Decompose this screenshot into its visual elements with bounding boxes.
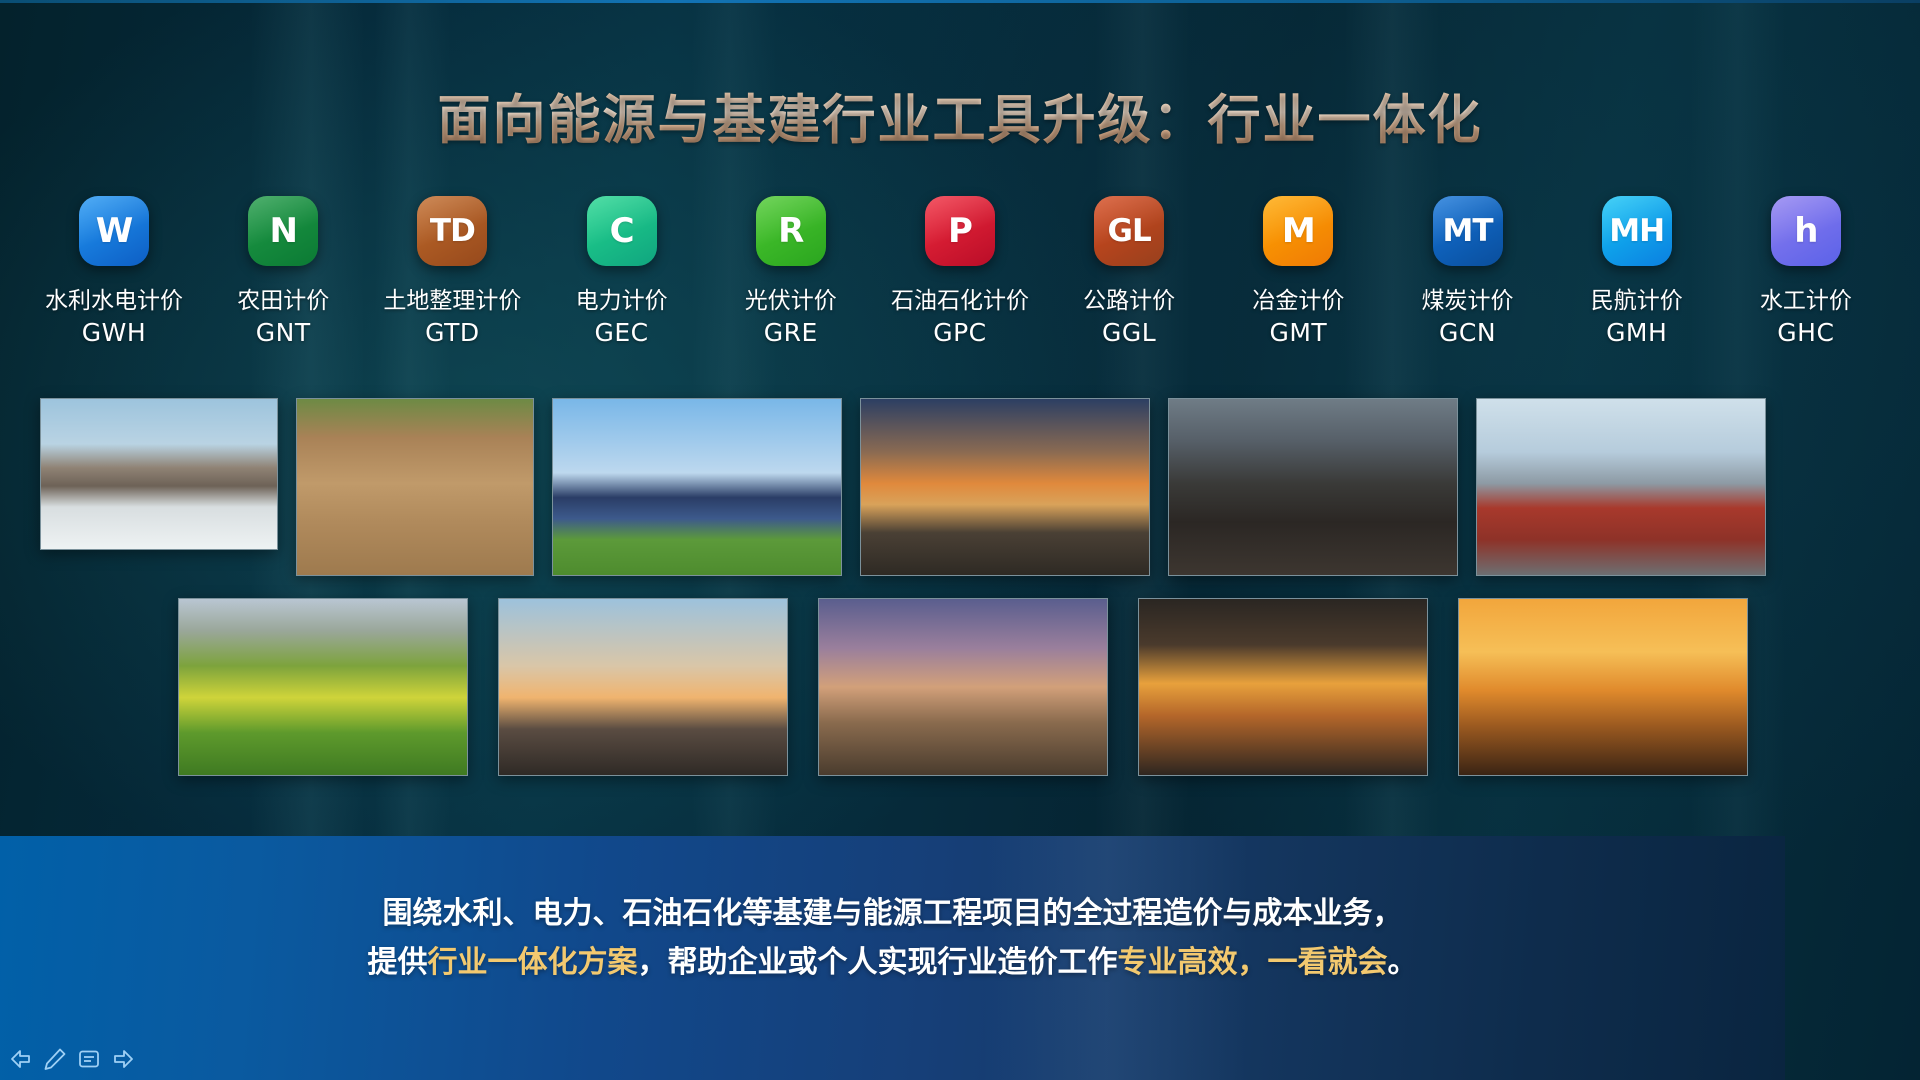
product-item-ggl[interactable]: GL公路计价GGL bbox=[1055, 196, 1203, 348]
gallery-photo-pylon bbox=[498, 598, 788, 776]
product-label: 电力计价GEC bbox=[576, 288, 668, 348]
product-item-gre[interactable]: R光伏计价GRE bbox=[717, 196, 865, 348]
product-item-ghc[interactable]: h水工计价GHC bbox=[1732, 196, 1880, 348]
product-code: GNT bbox=[237, 318, 329, 348]
product-code: GTD bbox=[383, 318, 521, 348]
gallery-photo-farm bbox=[178, 598, 468, 776]
ggl-app-icon[interactable]: GL bbox=[1094, 196, 1164, 266]
presentation-slide: 面向能源与基建行业工具升级：行业一体化 W水利水电计价GWHN农田计价GNTTD… bbox=[0, 0, 1920, 1080]
gmt-app-icon[interactable]: M bbox=[1263, 196, 1333, 266]
gcn-app-icon[interactable]: MT bbox=[1433, 196, 1503, 266]
product-label: 公路计价GGL bbox=[1083, 288, 1175, 348]
product-label: 煤炭计价GCN bbox=[1422, 288, 1514, 348]
gnt-app-icon[interactable]: N bbox=[248, 196, 318, 266]
product-item-gec[interactable]: C电力计价GEC bbox=[548, 196, 696, 348]
product-code: GPC bbox=[891, 318, 1029, 348]
gallery-photo-road bbox=[860, 398, 1150, 576]
product-icon-row: W水利水电计价GWHN农田计价GNTTD土地整理计价GTDC电力计价GECR光伏… bbox=[40, 196, 1880, 348]
arrow-left-icon[interactable] bbox=[8, 1046, 34, 1072]
gallery-photo-solar bbox=[552, 398, 842, 576]
banner-line-1: 围绕水利、电力、石油石化等基建与能源工程项目的全过程造价与成本业务， bbox=[0, 890, 1785, 939]
gallery-photo-plane bbox=[1458, 598, 1748, 776]
slideshow-toolbar[interactable] bbox=[8, 1046, 136, 1072]
product-item-gmt[interactable]: M冶金计价GMT bbox=[1224, 196, 1372, 348]
product-label: 石油石化计价GPC bbox=[891, 288, 1029, 348]
page-title: 面向能源与基建行业工具升级：行业一体化 bbox=[0, 78, 1920, 154]
gre-app-icon[interactable]: R bbox=[756, 196, 826, 266]
product-label: 农田计价GNT bbox=[237, 288, 329, 348]
product-item-gpc[interactable]: P石油石化计价GPC bbox=[886, 196, 1034, 348]
product-label: 水利水电计价GWH bbox=[45, 288, 183, 348]
product-code: GMH bbox=[1591, 318, 1683, 348]
product-label: 水工计价GHC bbox=[1760, 288, 1852, 348]
gwh-app-icon[interactable]: W bbox=[79, 196, 149, 266]
gallery-photo-dam bbox=[40, 398, 278, 550]
gallery-photo-coal bbox=[1168, 398, 1458, 576]
product-item-gtd[interactable]: TD土地整理计价GTD bbox=[378, 196, 526, 348]
gpc-app-icon[interactable]: P bbox=[925, 196, 995, 266]
product-code: GRE bbox=[745, 318, 837, 348]
product-item-gmh[interactable]: MH民航计价GMH bbox=[1563, 196, 1711, 348]
product-item-gcn[interactable]: MT煤炭计价GCN bbox=[1394, 196, 1542, 348]
banner-line-2: 提供行业一体化方案，帮助企业或个人实现行业造价工作专业高效，一看就会。 bbox=[0, 939, 1785, 988]
gec-app-icon[interactable]: C bbox=[587, 196, 657, 266]
gallery-photo-port bbox=[1476, 398, 1766, 576]
product-code: GWH bbox=[45, 318, 183, 348]
top-accent-line bbox=[0, 0, 1920, 3]
product-code: GMT bbox=[1252, 318, 1344, 348]
product-code: GGL bbox=[1083, 318, 1175, 348]
product-code: GHC bbox=[1760, 318, 1852, 348]
pen-icon[interactable] bbox=[42, 1046, 68, 1072]
banner-text: 。 bbox=[1388, 945, 1418, 980]
gtd-app-icon[interactable]: TD bbox=[417, 196, 487, 266]
banner-highlight: 专业高效，一看就会 bbox=[1118, 945, 1388, 980]
gallery-row-1 bbox=[40, 398, 1766, 576]
banner-text: 提供 bbox=[368, 945, 428, 980]
product-code: GEC bbox=[576, 318, 668, 348]
banner-highlight: 行业一体化方案 bbox=[428, 945, 638, 980]
gallery-row-2 bbox=[178, 598, 1748, 776]
summary-banner-text: 围绕水利、电力、石油石化等基建与能源工程项目的全过程造价与成本业务，提供行业一体… bbox=[0, 890, 1785, 987]
product-item-gwh[interactable]: W水利水电计价GWH bbox=[40, 196, 188, 348]
product-label: 冶金计价GMT bbox=[1252, 288, 1344, 348]
arrow-right-icon[interactable] bbox=[110, 1046, 136, 1072]
product-label: 光伏计价GRE bbox=[745, 288, 837, 348]
gallery-photo-oil bbox=[818, 598, 1108, 776]
ghc-app-icon[interactable]: h bbox=[1771, 196, 1841, 266]
gmh-app-icon[interactable]: MH bbox=[1602, 196, 1672, 266]
gallery-photo-earth bbox=[296, 398, 534, 576]
gallery-photo-steel bbox=[1138, 598, 1428, 776]
product-label: 土地整理计价GTD bbox=[383, 288, 521, 348]
product-item-gnt[interactable]: N农田计价GNT bbox=[209, 196, 357, 348]
product-label: 民航计价GMH bbox=[1591, 288, 1683, 348]
menu-icon[interactable] bbox=[76, 1046, 102, 1072]
product-code: GCN bbox=[1422, 318, 1514, 348]
banner-text: ，帮助企业或个人实现行业造价工作 bbox=[638, 945, 1118, 980]
